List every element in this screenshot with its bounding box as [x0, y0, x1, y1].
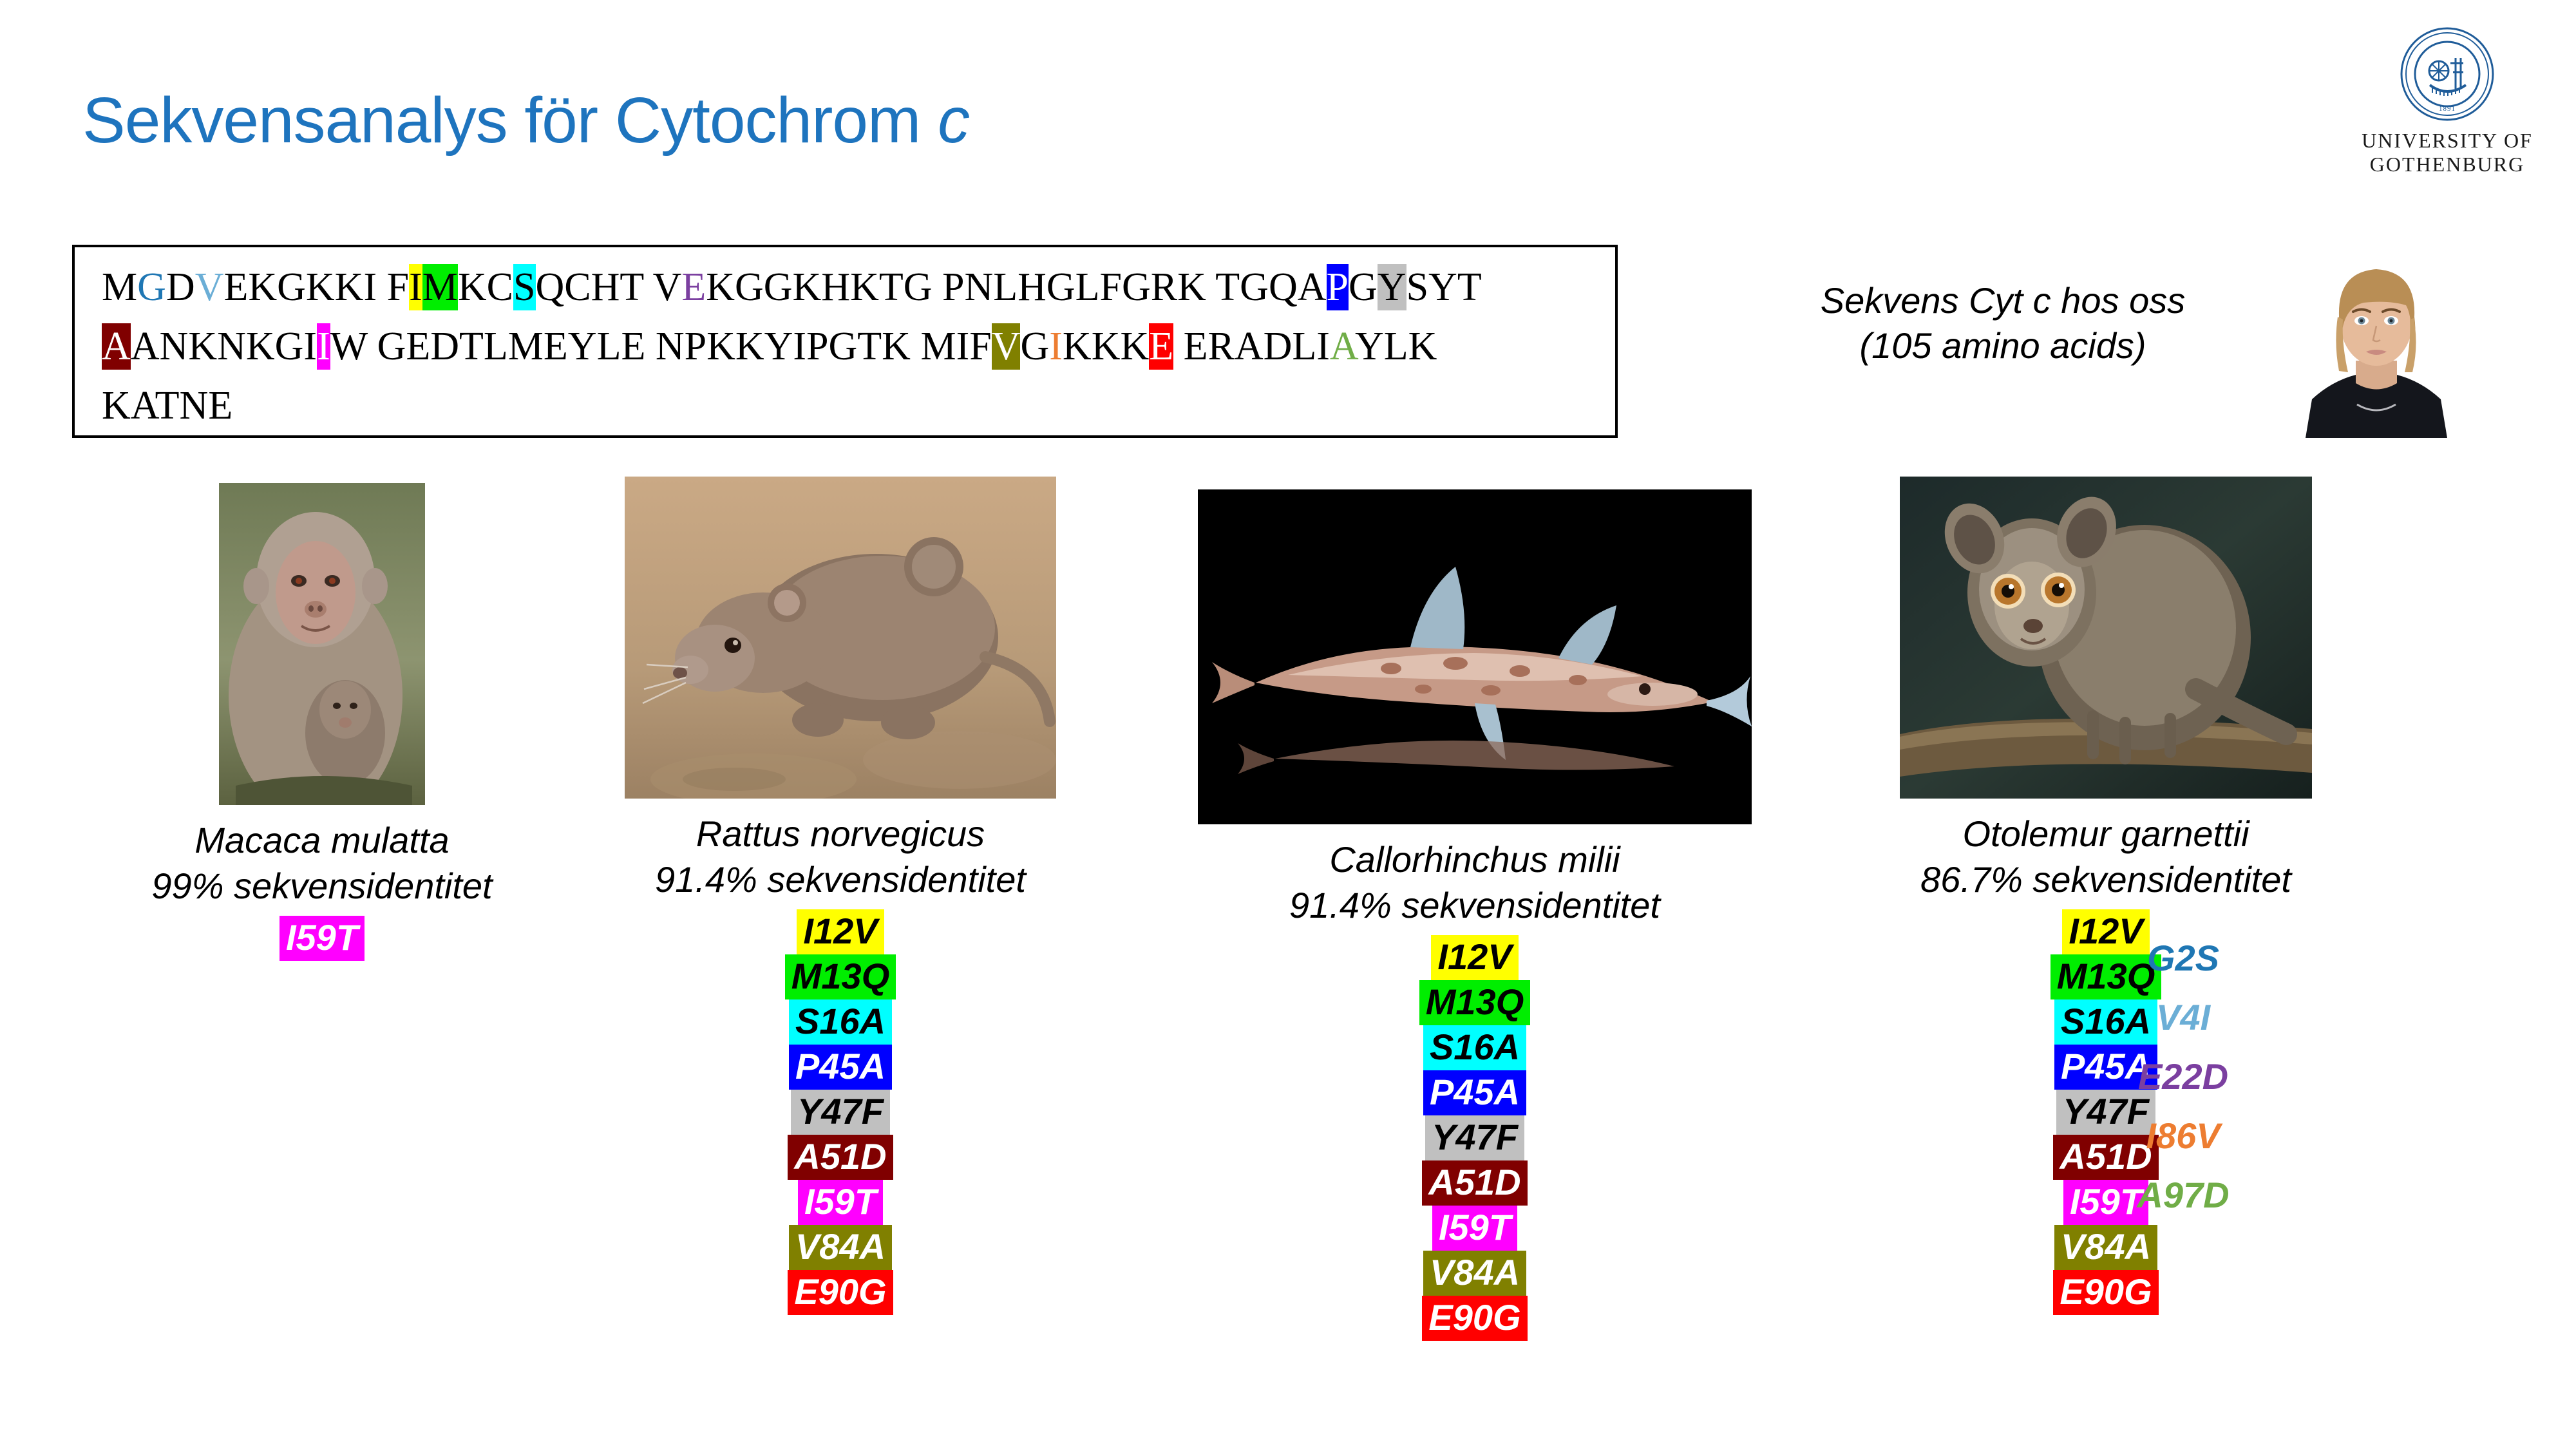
person-portrait: [2280, 238, 2473, 438]
mutation-badge: I59T: [279, 916, 365, 961]
species-column-macaca: Macaca mulatta 99% sekvensidentitet I59T: [90, 483, 554, 961]
page-title-italic-c: c: [938, 84, 969, 156]
university-logo: 1891 UNIVERSITY OF GOTHENBURG: [2344, 26, 2550, 176]
mutation-badge: I12V: [797, 909, 884, 954]
sequence-residue-run: ANKNKGI: [131, 323, 317, 370]
svg-text:1891: 1891: [2439, 105, 2456, 113]
page-title: Sekvensanalys för Cytochrom c: [82, 84, 969, 158]
sequence-residue-run: I: [317, 323, 330, 370]
mutation-badge: M13Q: [785, 954, 896, 999]
bushbaby-photo: [1900, 477, 2312, 799]
sequence-residue-run: ERADLI: [1173, 323, 1330, 370]
mutation-label: A97D: [2080, 1177, 2286, 1213]
sequence-line-1: MGDVEKGKKI FIMKCSQCHT VEKGGKHKTG PNLHGLF…: [102, 258, 1482, 317]
gothenburg-seal-icon: 1891: [2399, 26, 2495, 122]
university-logo-line1: UNIVERSITY OF: [2344, 129, 2550, 153]
mutation-label: I86V: [2080, 1118, 2286, 1154]
mutation-badge: V84A: [1423, 1251, 1526, 1296]
own-sequence-caption-line2: (105 amino acids): [1758, 323, 2248, 368]
species-identity: 91.4% sekvensidentitet: [583, 858, 1098, 900]
mutation-badge: P45A: [789, 1045, 892, 1090]
mutation-badge: I12V: [1431, 935, 1518, 980]
sequence-line-2: AANKNKGIIW GEDTLMEYLE NPKKYIPGTK MIFVGIK…: [102, 317, 1482, 376]
sequence-residue-run: EKGKKI F: [223, 264, 409, 310]
sequence-residue-run: P: [1327, 264, 1349, 310]
sequence-residue-run: G: [1349, 264, 1378, 310]
sequence-residue-run: A: [102, 323, 131, 370]
macaque-photo: [219, 483, 425, 805]
shark-photo: [1198, 489, 1752, 824]
mutation-badge: M13Q: [1419, 980, 1531, 1025]
sequence-residue-run: KC: [458, 264, 513, 310]
mutation-badge: I59T: [1432, 1206, 1517, 1251]
sequence-residue-run: M: [422, 264, 458, 310]
species-name: Rattus norvegicus: [583, 813, 1098, 855]
sequence-residue-run: KATNE: [102, 383, 232, 429]
sequence-residue-run: YLK: [1355, 323, 1437, 370]
mutation-label: G2S: [2080, 940, 2286, 976]
mutation-list-macaca: I59T: [90, 916, 554, 961]
sequence-text: MGDVEKGKKI FIMKCSQCHT VEKGGKHKTG PNLHGLF…: [102, 258, 1482, 435]
mutation-badge: A51D: [788, 1135, 893, 1180]
sequence-box: MGDVEKGKKI FIMKCSQCHT VEKGGKHKTG PNLHGLF…: [72, 245, 1618, 438]
species-name: Otolemur garnettii: [1848, 813, 2363, 855]
sequence-residue-run: V: [195, 264, 224, 310]
mutation-badge: P45A: [1423, 1070, 1526, 1115]
sequence-residue-run: KGGKHKTG PNLHGLFGRK TGQA: [706, 264, 1326, 310]
mutation-list-rattus: I12VM13QS16AP45AY47FA51DI59TV84AE90G: [583, 909, 1098, 1315]
species-name: Macaca mulatta: [90, 819, 554, 861]
mutation-badge: E90G: [2053, 1270, 2158, 1315]
mutation-badge: Y47F: [1425, 1115, 1524, 1160]
species-identity: 86.7% sekvensidentitet: [1848, 858, 2363, 900]
mutation-badge: E90G: [788, 1270, 893, 1315]
species-name: Callorhinchus milii: [1185, 838, 1765, 880]
extra-mutation-list-otolemur: G2SV4IE22DI86VA97D: [2080, 940, 2286, 1236]
sequence-residue-run: I: [1049, 323, 1063, 370]
mutation-badge: S16A: [1423, 1025, 1526, 1070]
sequence-residue-run: V: [992, 323, 1021, 370]
species-identity: 91.4% sekvensidentitet: [1185, 884, 1765, 926]
mutation-badge: S16A: [789, 999, 892, 1045]
sequence-residue-run: M: [102, 264, 137, 310]
sequence-residue-run: D: [166, 264, 195, 310]
sequence-residue-run: SYT: [1406, 264, 1482, 310]
university-logo-line2: GOTHENBURG: [2344, 153, 2550, 176]
mutation-label: E22D: [2080, 1059, 2286, 1095]
sequence-residue-run: E: [681, 264, 706, 310]
sequence-residue-run: E: [1149, 323, 1173, 370]
sequence-residue-run: A: [1330, 323, 1355, 370]
mutation-badge: V84A: [789, 1225, 892, 1270]
university-logo-text: UNIVERSITY OF GOTHENBURG: [2344, 129, 2550, 176]
own-sequence-caption-line1: Sekvens Cyt c hos oss: [1758, 278, 2248, 323]
sequence-residue-run: I: [409, 264, 422, 310]
mutation-badge: Y47F: [791, 1090, 890, 1135]
sequence-residue-run: G: [137, 264, 166, 310]
sequence-residue-run: S: [513, 264, 535, 310]
sequence-residue-run: W GEDTLMEYLE NPKKYIPGTK MIF: [330, 323, 992, 370]
page-title-text: Sekvensanalys för Cytochrom: [82, 84, 938, 156]
mutation-badge: A51D: [1422, 1160, 1527, 1206]
species-column-rattus: Rattus norvegicus 91.4% sekvensidentitet…: [583, 477, 1098, 1315]
own-sequence-caption: Sekvens Cyt c hos oss (105 amino acids): [1758, 278, 2248, 368]
mutation-badge: E90G: [1422, 1296, 1527, 1341]
sequence-line-3: KATNE: [102, 376, 1482, 435]
sequence-residue-run: KKK: [1063, 323, 1149, 370]
rat-photo: [625, 477, 1056, 799]
mutation-list-callorhinchus: I12VM13QS16AP45AY47FA51DI59TV84AE90G: [1185, 935, 1765, 1341]
sequence-residue-run: G: [1020, 323, 1049, 370]
sequence-residue-run: QCHT V: [536, 264, 682, 310]
mutation-badge: I59T: [798, 1180, 883, 1225]
sequence-residue-run: Y: [1378, 264, 1406, 310]
species-identity: 99% sekvensidentitet: [90, 865, 554, 907]
species-column-callorhinchus: Callorhinchus milii 91.4% sekvensidentit…: [1185, 489, 1765, 1341]
mutation-label: V4I: [2080, 999, 2286, 1036]
